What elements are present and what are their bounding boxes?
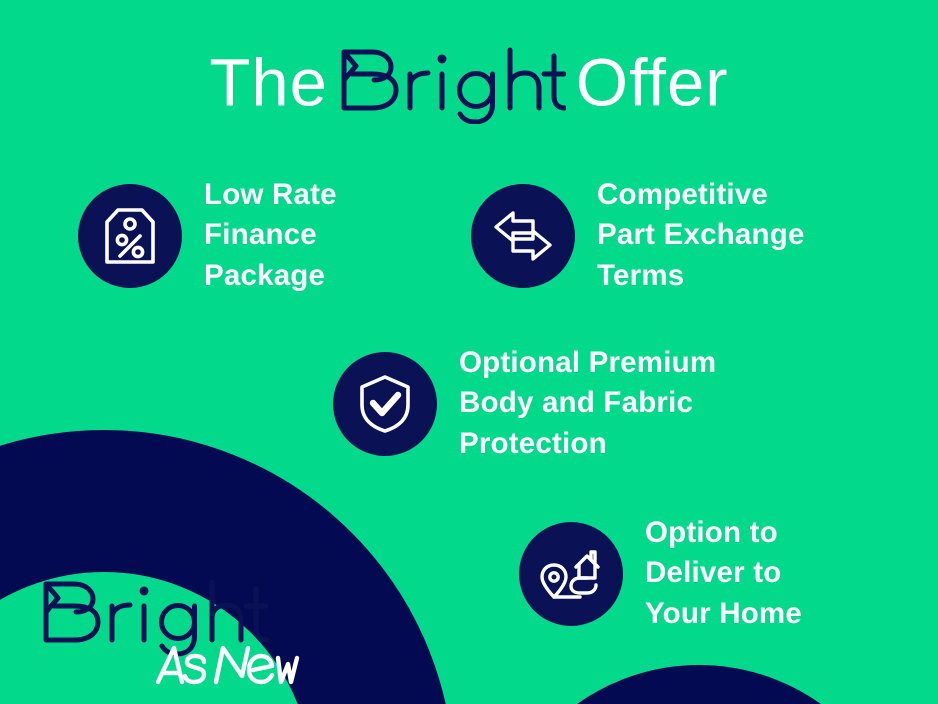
page-title: The Offer (0, 44, 938, 122)
delivery-route-home-icon (540, 545, 602, 603)
feature-icon-badge (471, 184, 575, 288)
exchange-arrows-icon (493, 208, 553, 264)
headline-prefix: The (209, 46, 327, 121)
feature-body-fabric-protection: Optional Premium Body and Fabric Protect… (333, 343, 716, 464)
bright-wordmark-icon (338, 46, 566, 124)
small-navy-ring-icon (489, 665, 909, 704)
promo-poster: The Offer (0, 0, 938, 704)
shield-check-icon (358, 374, 412, 434)
feature-low-rate-finance: Low Rate Finance Package (78, 175, 337, 296)
feature-home-delivery: Option to Deliver to Your Home (519, 513, 802, 634)
feature-icon-badge (333, 352, 437, 456)
headline-suffix: Offer (576, 46, 729, 121)
feature-part-exchange: Competitive Part Exchange Terms (471, 175, 805, 296)
feature-label: Competitive Part Exchange Terms (597, 175, 805, 296)
logo-bright-wordmark-icon (46, 582, 267, 654)
feature-label: Low Rate Finance Package (204, 175, 337, 296)
feature-icon-badge (519, 522, 623, 626)
price-tag-percent-icon (104, 207, 156, 265)
feature-label: Optional Premium Body and Fabric Protect… (459, 343, 716, 464)
feature-label: Option to Deliver to Your Home (645, 513, 802, 634)
feature-icon-badge (78, 184, 182, 288)
brand-logo (40, 578, 300, 686)
